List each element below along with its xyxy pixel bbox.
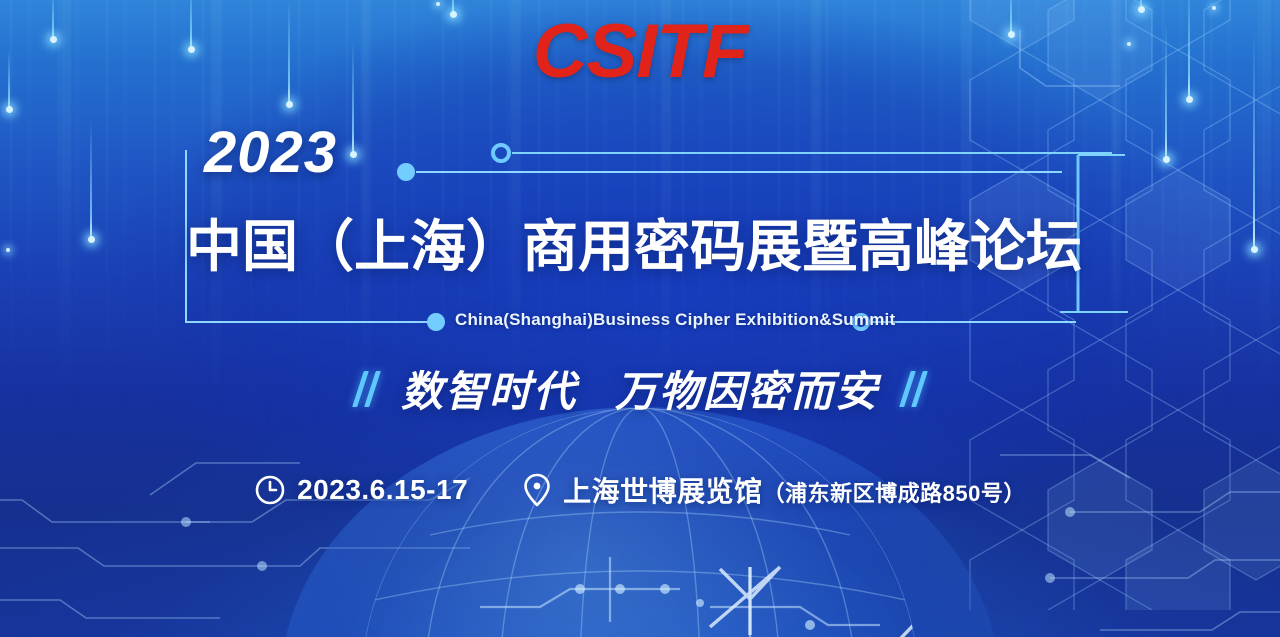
poster-canvas: CSITF 2023 中国（上海）商用密码展暨高峰论坛 China(Shangh… bbox=[0, 0, 1280, 637]
csitf-logo: CSITF bbox=[0, 14, 1280, 90]
slogan-text: 数智时代万物因密而安 bbox=[401, 358, 879, 419]
event-venue-text: 上海世博展览馆（浦东新区博成路850号） bbox=[563, 470, 1026, 510]
event-venue-item: 上海世博展览馆（浦东新区博成路850号） bbox=[522, 470, 1026, 510]
poster-content: CSITF 2023 中国（上海）商用密码展暨高峰论坛 China(Shangh… bbox=[0, 0, 1280, 637]
slogan-part-1: 数智时代 bbox=[401, 368, 577, 415]
event-info-row: 2023.6.15-17 上海世博展览馆（浦东新区博成路850号） bbox=[0, 470, 1280, 510]
venue-address: （浦东新区博成路850号） bbox=[763, 481, 1026, 506]
venue-name: 上海世博展览馆 bbox=[563, 476, 763, 507]
year-label: 2023 bbox=[204, 124, 337, 182]
clock-icon bbox=[254, 474, 286, 506]
location-pin-icon bbox=[522, 473, 552, 507]
event-date-item: 2023.6.15-17 bbox=[254, 474, 468, 506]
title-chinese: 中国（上海）商用密码展暨高峰论坛 bbox=[186, 218, 1086, 277]
slogan-row: 数智时代万物因密而安 bbox=[0, 358, 1280, 419]
event-date-text: 2023.6.15-17 bbox=[297, 474, 468, 506]
title-english: China(Shanghai)Business Cipher Exhibitio… bbox=[455, 310, 895, 330]
slogan-part-2: 万物因密而安 bbox=[615, 368, 879, 415]
slash-marks-left-icon bbox=[358, 371, 375, 407]
slash-marks-right-icon bbox=[905, 371, 922, 407]
